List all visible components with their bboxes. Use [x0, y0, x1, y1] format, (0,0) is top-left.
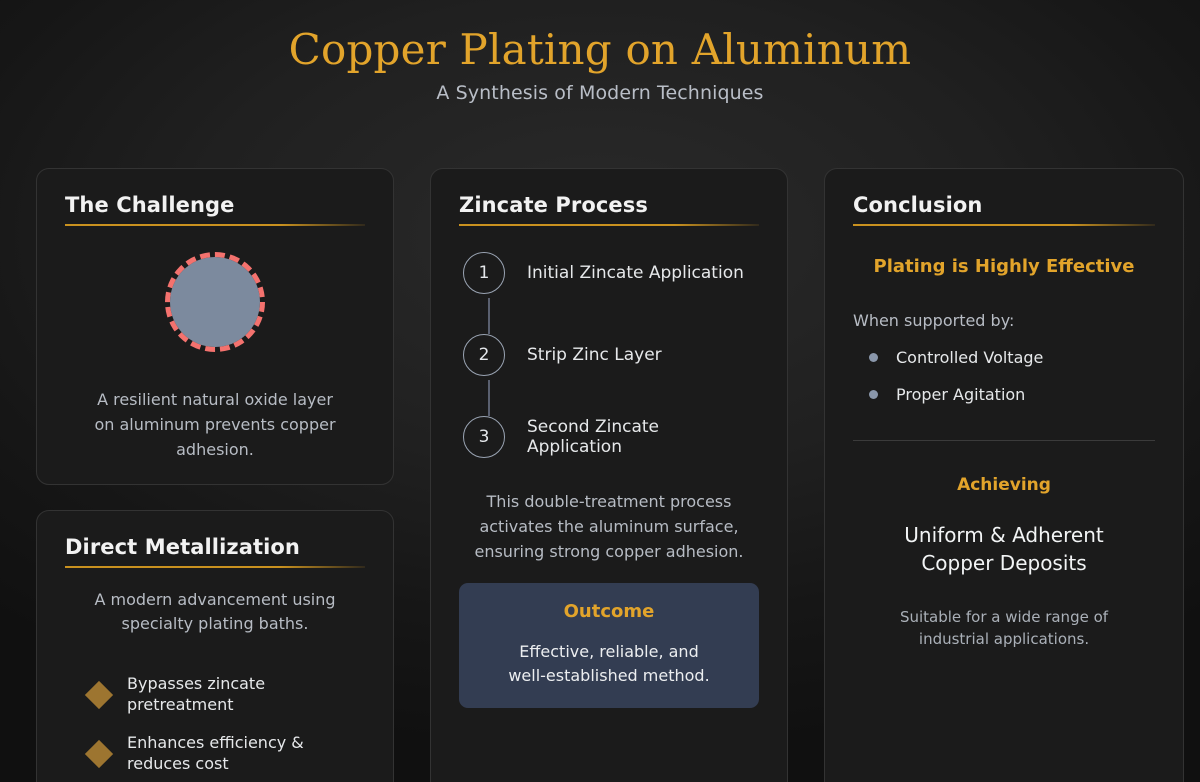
challenge-card-title: The Challenge [65, 193, 365, 224]
direct-metallization-card-title: Direct Metallization [65, 535, 365, 566]
conclusion-supported-by-label: When supported by: [853, 311, 1155, 330]
card-the-challenge: The Challenge A resilient natural oxide … [36, 168, 394, 485]
list-item: 3 Second Zincate Application [463, 416, 759, 458]
left-column: The Challenge A resilient natural oxide … [36, 168, 394, 782]
zincate-note-line-1: This double-treatment process [459, 490, 759, 515]
list-item: Controlled Voltage [869, 348, 1155, 367]
achieving-value-line-1: Uniform & Adherent [853, 521, 1155, 549]
page-subtitle: A Synthesis of Modern Techniques [0, 82, 1200, 104]
conclusion-item-label: Controlled Voltage [896, 348, 1043, 367]
achieving-value: Uniform & Adherent Copper Deposits [853, 521, 1155, 578]
step-number-badge: 1 [463, 252, 505, 294]
dm-item-label: Enhances efficiency & reduces cost [127, 733, 365, 775]
list-item: Proper Agitation [869, 385, 1155, 404]
challenge-caption-line-1: A resilient natural oxide layer [65, 388, 365, 413]
list-item: Bypasses zincate pretreatment [89, 674, 365, 716]
card-conclusion: Conclusion Plating is Highly Effective W… [824, 168, 1184, 782]
dm-lead-line-2: specialty plating baths. [65, 612, 365, 636]
card-direct-metallization: Direct Metallization A modern advancemen… [36, 510, 394, 782]
zincate-note: This double-treatment process activates … [459, 490, 759, 565]
outcome-text-line-2: well-established method. [475, 664, 743, 688]
zincate-card-title: Zincate Process [459, 193, 759, 224]
achieving-label: Achieving [853, 475, 1155, 495]
zincate-steps: 1 Initial Zincate Application 2 Strip Zi… [459, 252, 759, 458]
direct-metallization-title-rule [65, 566, 365, 568]
diamond-bullet-icon [85, 681, 113, 709]
direct-metallization-list: Bypasses zincate pretreatment Enhances e… [65, 674, 365, 774]
direct-metallization-lead: A modern advancement using specialty pla… [65, 588, 365, 636]
challenge-body: A resilient natural oxide layer on alumi… [65, 230, 365, 462]
step-label: Second Zincate Application [527, 417, 759, 457]
list-item: 2 Strip Zinc Layer [463, 334, 759, 376]
zincate-note-line-2: activates the aluminum surface, [459, 515, 759, 540]
card-zincate-process: Zincate Process 1 Initial Zincate Applic… [430, 168, 788, 782]
challenge-caption-line-2: on aluminum prevents copper adhesion. [65, 413, 365, 463]
conclusion-title-rule [853, 224, 1155, 226]
infographic-page: Copper Plating on Aluminum A Synthesis o… [0, 0, 1200, 782]
conclusion-item-label: Proper Agitation [896, 385, 1025, 404]
step-connector-line [488, 298, 490, 334]
dm-lead-line-1: A modern advancement using [65, 588, 365, 612]
outcome-title: Outcome [475, 601, 743, 622]
list-item: Enhances efficiency & reduces cost [89, 733, 365, 775]
step-label: Initial Zincate Application [527, 263, 744, 283]
outcome-box: Outcome Effective, reliable, and well-es… [459, 583, 759, 708]
dot-bullet-icon [869, 390, 878, 399]
step-number-badge: 3 [463, 416, 505, 458]
step-connector-line [488, 380, 490, 416]
page-title: Copper Plating on Aluminum [0, 26, 1200, 73]
zincate-title-rule [459, 224, 759, 226]
conclusion-support-list: Controlled Voltage Proper Agitation [853, 348, 1155, 404]
conclusion-divider [853, 440, 1155, 441]
dashed-ring-circle-icon [165, 252, 265, 352]
outcome-text: Effective, reliable, and well-establishe… [475, 640, 743, 688]
achieving-note: Suitable for a wide range of industrial … [853, 606, 1155, 651]
achieving-value-line-2: Copper Deposits [853, 549, 1155, 577]
zincate-note-line-3: ensuring strong copper adhesion. [459, 540, 759, 565]
achieving-note-line-2: industrial applications. [853, 628, 1155, 651]
conclusion-card-title: Conclusion [853, 193, 1155, 224]
cards-grid: The Challenge A resilient natural oxide … [36, 168, 1164, 736]
challenge-title-rule [65, 224, 365, 226]
conclusion-headline: Plating is Highly Effective [853, 256, 1155, 277]
dm-item-label: Bypasses zincate pretreatment [127, 674, 365, 716]
step-label: Strip Zinc Layer [527, 345, 662, 365]
list-item: 1 Initial Zincate Application [463, 252, 759, 294]
middle-column: Zincate Process 1 Initial Zincate Applic… [430, 168, 788, 782]
diamond-bullet-icon [85, 740, 113, 768]
challenge-caption: A resilient natural oxide layer on alumi… [65, 388, 365, 462]
right-column: Conclusion Plating is Highly Effective W… [824, 168, 1184, 782]
dot-bullet-icon [869, 353, 878, 362]
step-number-badge: 2 [463, 334, 505, 376]
outcome-text-line-1: Effective, reliable, and [475, 640, 743, 664]
page-header: Copper Plating on Aluminum A Synthesis o… [0, 0, 1200, 104]
achieving-note-line-1: Suitable for a wide range of [853, 606, 1155, 629]
